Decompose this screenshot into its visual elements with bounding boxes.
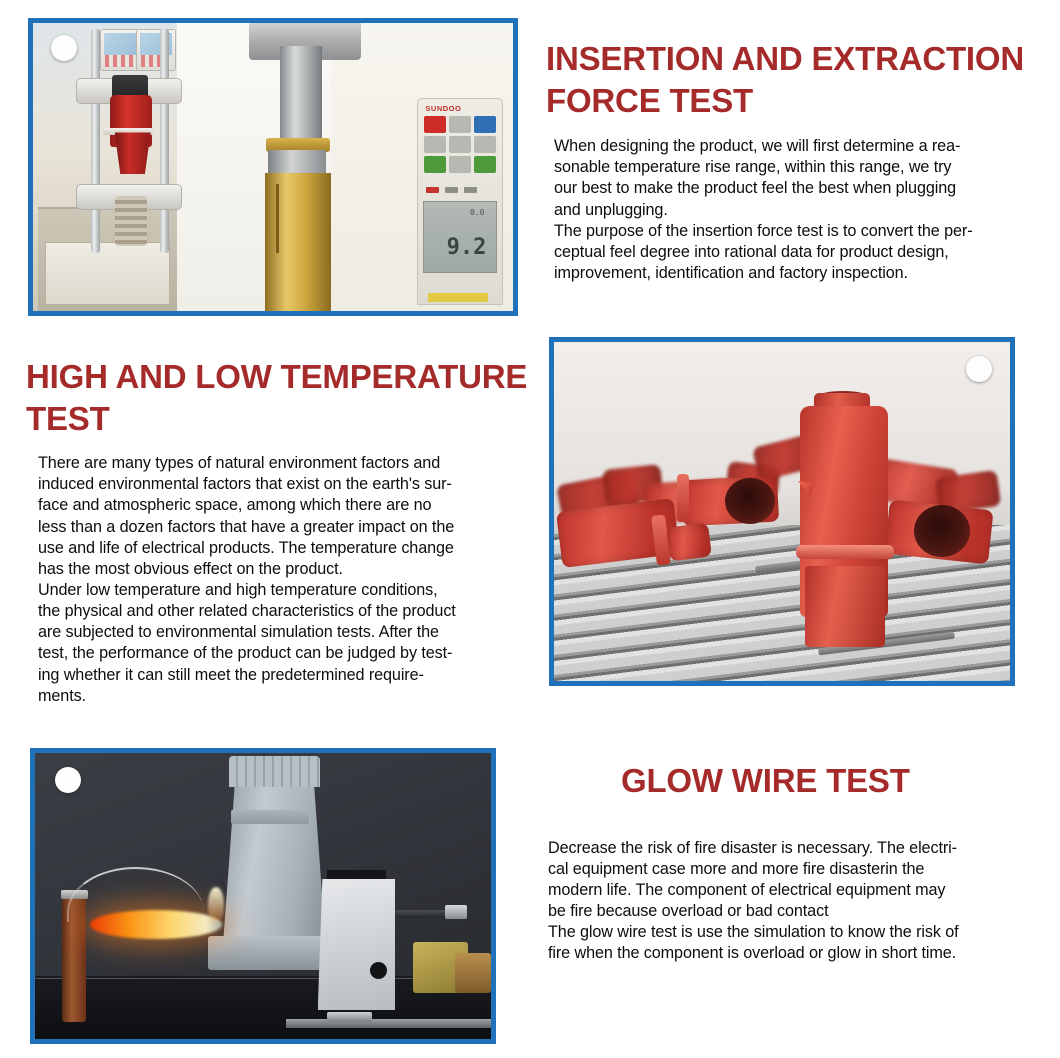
upright-connector-lower-ring: [796, 545, 894, 559]
connector-nose: [666, 523, 712, 562]
glow-wire-test-section: GLOW WIRE TEST Decrease the risk of fire…: [621, 760, 1021, 964]
gauge-key-onoff: [424, 116, 446, 133]
support-rod-tip: [445, 905, 467, 919]
red-connector-lower: [115, 132, 151, 174]
guide-column-right: [160, 29, 169, 254]
high-and-low-temperature-test-title: HIGH AND LOW TEMPERATURE TEST: [26, 356, 542, 439]
glowing-wire-flame: [90, 910, 222, 939]
upright-connector-base: [805, 566, 885, 647]
gauge-brand-label: SUNDOO: [425, 104, 461, 113]
gauge-key-zero: [474, 116, 496, 133]
base-control-panel: [45, 242, 170, 305]
plastic-enclosure-specimen: [222, 759, 327, 959]
bellows-coupling: [115, 196, 147, 246]
controller-display-right: [136, 29, 176, 71]
gauge-key-peak: [449, 116, 471, 133]
gauge-key-up: [449, 136, 471, 153]
roller-cylinder: [455, 953, 491, 993]
force-test-machine-photo: SUNDOO 0.0: [28, 18, 518, 316]
insertion-extraction-force-test-title: INSERTION AND EXTRACTION FORCE TEST: [546, 38, 1038, 121]
product-test-infographic: SUNDOO 0.0: [0, 0, 1060, 1058]
glow-wire-test-title: GLOW WIRE TEST: [621, 760, 1021, 802]
gauge-key-down: [449, 156, 471, 173]
gauge-key-print: [474, 156, 496, 173]
enclosure-cap: [229, 756, 320, 787]
white-circle-watermark: [51, 35, 77, 61]
insertion-extraction-force-test-section: INSERTION AND EXTRACTION FORCE TEST When…: [546, 38, 1038, 284]
gauge-led-unit: [464, 187, 477, 193]
gauge-key-set: [424, 136, 446, 153]
glow-wire-test-photo: [30, 748, 496, 1044]
specimen-holder-bracket: [318, 879, 396, 1011]
connector-ring: [677, 474, 689, 522]
adjustment-knob: [370, 962, 387, 979]
gauge-model-label: [428, 293, 488, 302]
connector-opening: [914, 505, 970, 557]
ram-shaft: [280, 46, 322, 150]
controller-screen: [104, 33, 136, 55]
temperature-chamber-image: [554, 342, 1010, 681]
controller-keypad: [105, 55, 135, 67]
force-test-machine-image: SUNDOO 0.0: [33, 23, 513, 311]
gauge-key-save: [474, 136, 496, 153]
white-circle-watermark: [966, 356, 992, 382]
glow-wire-test-image: [35, 753, 491, 1039]
base-rail: [286, 1019, 491, 1028]
sundoo-force-gauge: SUNDOO 0.0: [417, 98, 503, 305]
temperature-chamber-photo: [549, 337, 1015, 686]
enclosure-band: [231, 810, 309, 824]
gauge-led-peak: [445, 187, 458, 193]
brass-socket-body: [265, 173, 331, 311]
high-and-low-temperature-test-body: There are many types of natural environm…: [38, 453, 496, 707]
connector-opening: [725, 478, 775, 524]
high-and-low-temperature-test-section: HIGH AND LOW TEMPERATURE TEST There are …: [26, 356, 542, 707]
gauge-indicator-row: [426, 187, 477, 193]
brass-socket-slot: [276, 184, 279, 253]
glow-wire-test-body: Decrease the risk of fire disaster is ne…: [548, 838, 1003, 965]
controller-display-left: [100, 29, 140, 71]
shaft-assembly: [327, 1012, 373, 1022]
gauge-led-power: [426, 187, 439, 193]
insertion-extraction-force-test-body: When designing the product, we will firs…: [554, 136, 1006, 284]
gauge-lcd-secondary-value: 0.0: [470, 208, 484, 217]
gauge-key-memory: [424, 156, 446, 173]
gauge-lcd-screen: 0.0 9.2: [423, 201, 497, 273]
white-circle-watermark: [55, 767, 81, 793]
gauge-keypad: [424, 116, 496, 173]
flame-tip: [208, 887, 224, 921]
gauge-lcd-primary-value: 9.2: [447, 235, 487, 260]
guide-column-left: [91, 29, 100, 254]
